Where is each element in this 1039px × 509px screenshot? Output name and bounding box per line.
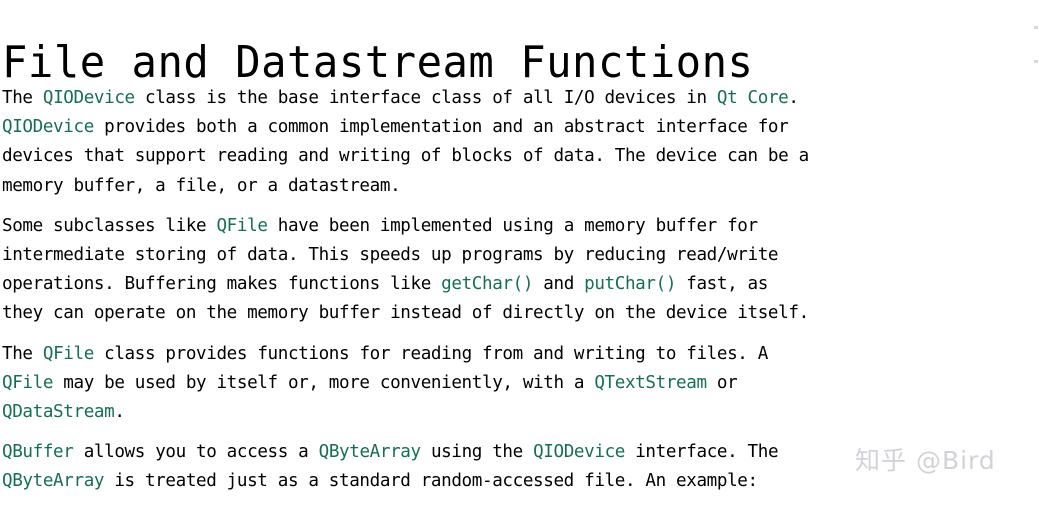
text-run: Some subclasses like [2, 216, 216, 236]
code-term: QByteArray [319, 442, 421, 462]
code-term: QIODevice [533, 442, 625, 462]
text-line: The QFile class provides functions for r… [2, 340, 1039, 369]
text-run: have been implemented using a memory buf… [268, 216, 758, 236]
paragraph-4: QBuffer allows you to access a QByteArra… [2, 438, 1039, 496]
text-run: The [2, 88, 43, 108]
code-term: QDataStream [2, 402, 114, 422]
text-line: The QIODevice class is the base interfac… [2, 84, 1039, 113]
text-run: . [788, 88, 798, 108]
text-run: interface. The [625, 442, 778, 462]
text-run: class provides functions for reading fro… [94, 344, 768, 364]
text-run: using the [421, 442, 533, 462]
text-run: intermediate storing of data. This speed… [2, 245, 778, 265]
text-line: QDataStream. [2, 398, 1039, 427]
code-term: Qt Core [717, 88, 789, 108]
text-run: may be used by itself or, more convenien… [53, 373, 594, 393]
text-run: class is the base interface class of all… [135, 88, 717, 108]
code-term: QBuffer [2, 442, 74, 462]
text-line: devices that support reading and writing… [2, 142, 1039, 171]
text-line: intermediate storing of data. This speed… [2, 241, 1039, 270]
document-body: The QIODevice class is the base interfac… [2, 84, 1039, 497]
paragraph-3: The QFile class provides functions for r… [2, 340, 1039, 428]
code-term: QIODevice [2, 117, 94, 137]
code-term: QByteArray [2, 471, 104, 491]
code-term: QFile [43, 344, 94, 364]
text-line: QIODevice provides both a common impleme… [2, 113, 1039, 142]
text-line: QByteArray is treated just as a standard… [2, 467, 1039, 496]
text-run: devices that support reading and writing… [2, 146, 809, 166]
text-line: Some subclasses like QFile have been imp… [2, 212, 1039, 241]
document-page: File and Datastream Functions The QIODev… [0, 0, 1039, 509]
text-run: is treated just as a standard random-acc… [104, 471, 758, 491]
paragraph-2: Some subclasses like QFile have been imp… [2, 212, 1039, 329]
code-term: putChar() [584, 274, 676, 294]
code-term: QTextStream [594, 373, 706, 393]
text-run: fast, as [676, 274, 768, 294]
text-line: QBuffer allows you to access a QByteArra… [2, 438, 1039, 467]
text-run: memory buffer, a file, or a datastream. [2, 176, 400, 196]
right-edge-artifact [1031, 18, 1038, 78]
text-line: operations. Buffering makes functions li… [2, 270, 1039, 299]
code-term: QFile [216, 216, 267, 236]
text-run: provides both a common implementation an… [94, 117, 788, 137]
text-run: operations. Buffering makes functions li… [2, 274, 441, 294]
text-run: and [533, 274, 584, 294]
text-run: . [114, 402, 124, 422]
text-line: memory buffer, a file, or a datastream. [2, 172, 1039, 201]
text-run: they can operate on the memory buffer in… [2, 303, 809, 323]
code-term: QFile [2, 373, 53, 393]
paragraph-1: The QIODevice class is the base interfac… [2, 84, 1039, 201]
code-term: QIODevice [43, 88, 135, 108]
text-line: QFile may be used by itself or, more con… [2, 369, 1039, 398]
text-run: The [2, 344, 43, 364]
code-term: getChar() [441, 274, 533, 294]
text-run: allows you to access a [74, 442, 319, 462]
text-run: or [707, 373, 738, 393]
text-line: they can operate on the memory buffer in… [2, 299, 1039, 328]
